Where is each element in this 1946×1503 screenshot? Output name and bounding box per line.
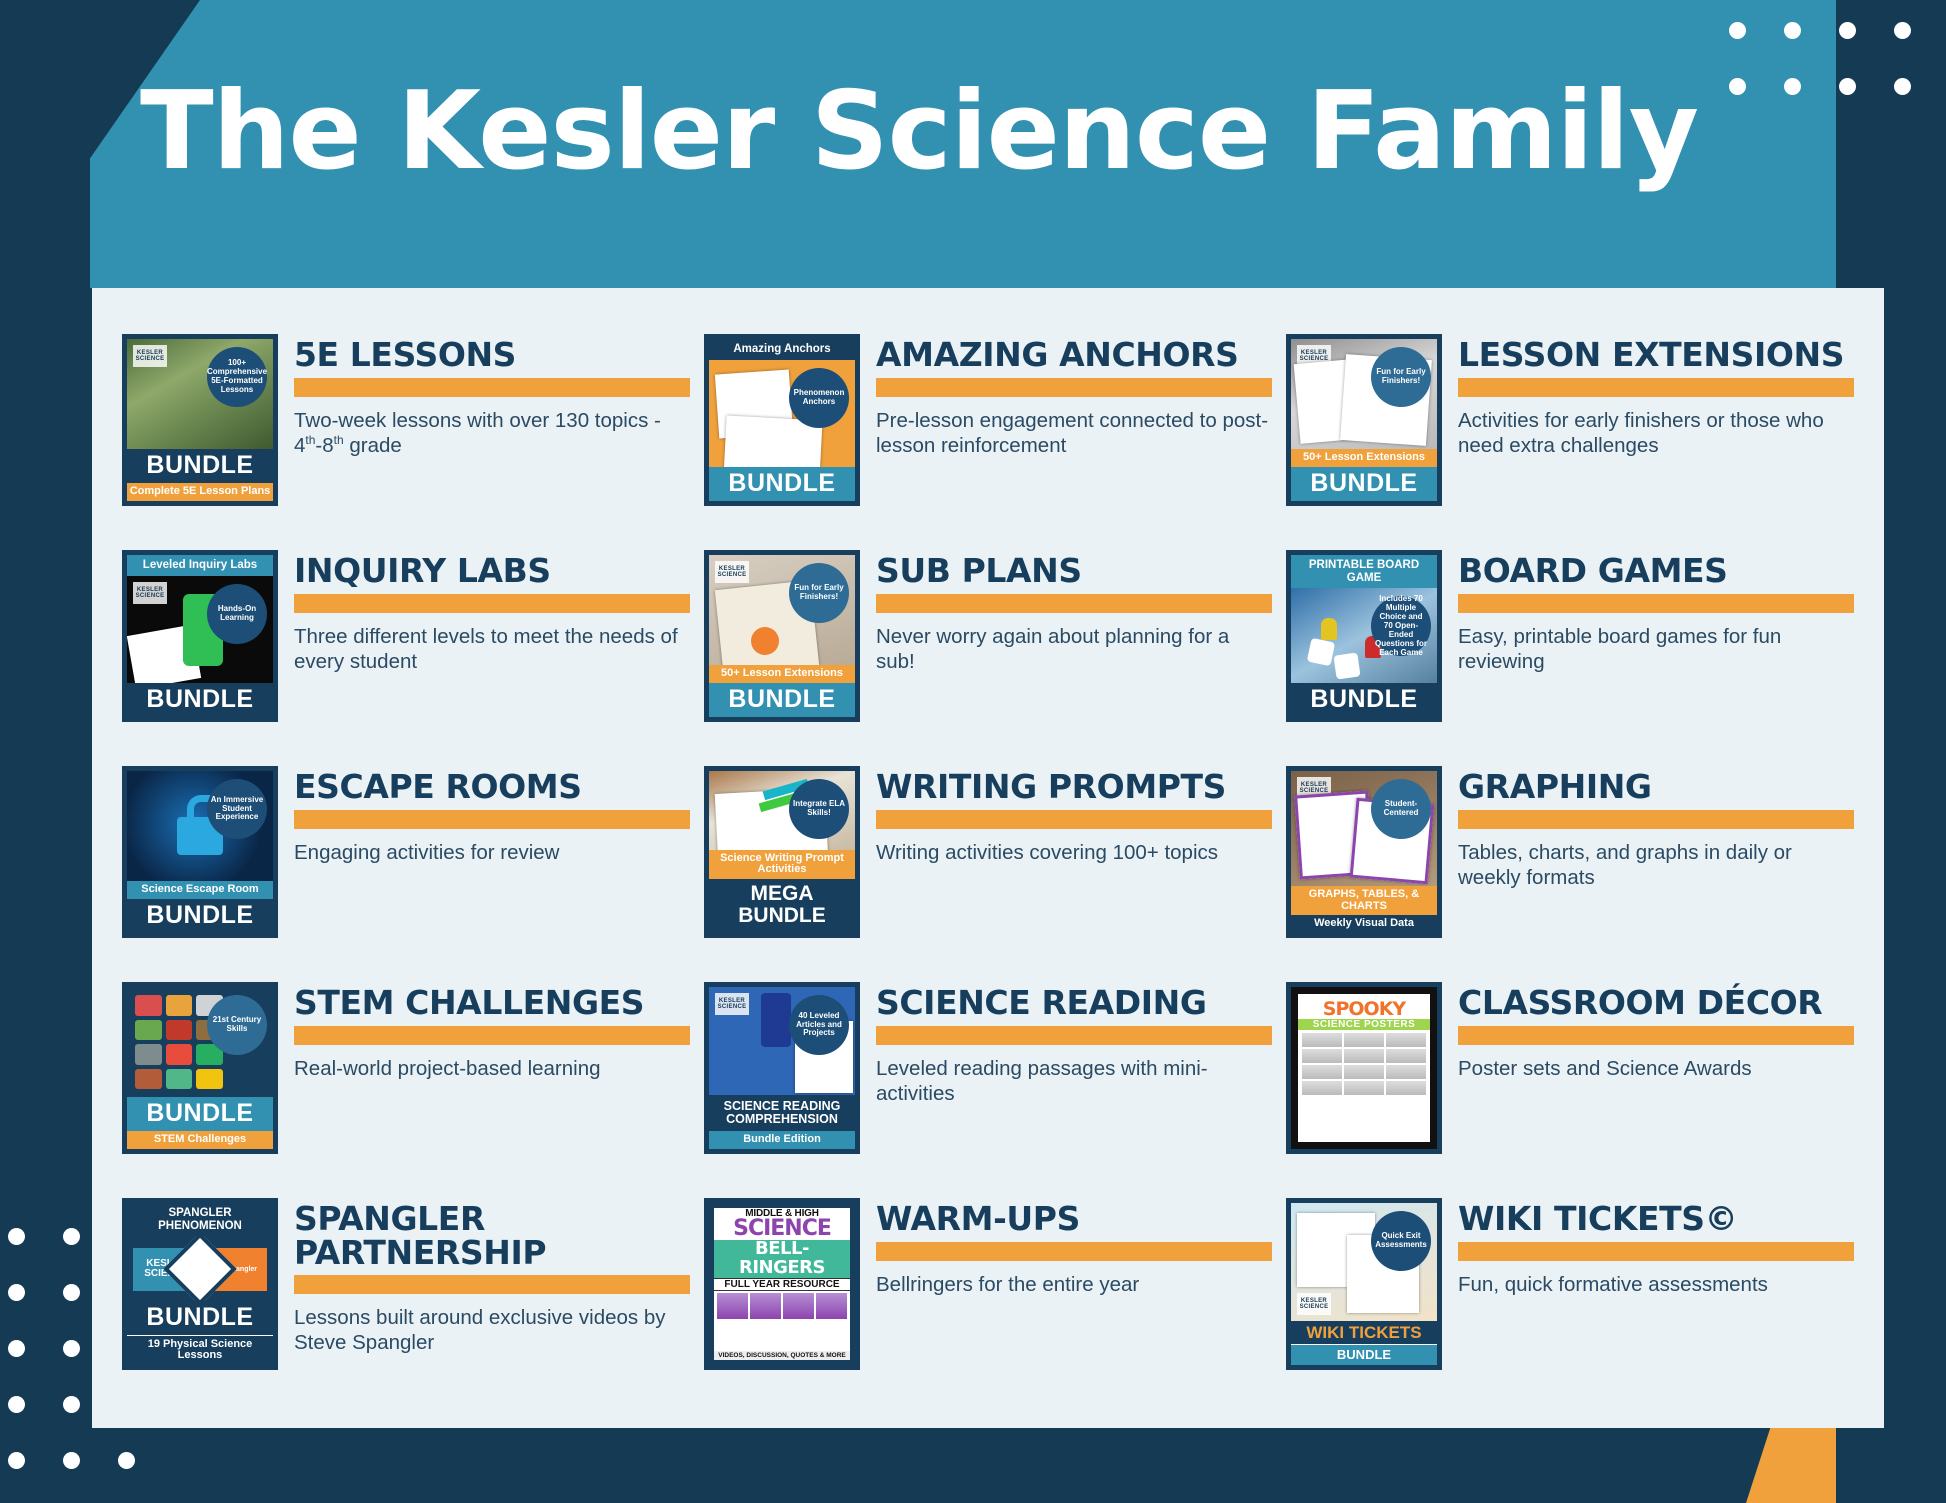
cover-badge: Student-Centered <box>1371 779 1431 839</box>
cover-sub-label: 19 Physical Science Lessons <box>127 1335 273 1365</box>
poster-thumb <box>1302 1049 1342 1063</box>
product-cover-classroom-decor[interactable]: SPOOKY SCIENCE POSTERS <box>1286 982 1442 1154</box>
kesler-science-logo-icon: KESLERSCIENCE <box>133 345 167 367</box>
product-text-block: SPANGLER PARTNERSHIP Lessons built aroun… <box>294 1198 690 1355</box>
cover-sub-label: STEM Challenges <box>127 1131 273 1149</box>
bellringer-thumb <box>783 1293 814 1319</box>
cover-artwork: KESLER SCIENCE stevespangler <box>127 1236 273 1300</box>
product-description: Activities for early finishers or those … <box>1458 408 1854 458</box>
decorative-dot <box>63 1284 80 1301</box>
product-description: Bellringers for the entire year <box>876 1272 1272 1297</box>
content-panel: KESLERSCIENCE 100+ Comprehensive 5E-Form… <box>92 288 1884 1428</box>
cover-sub-label: BUNDLE <box>1291 1345 1437 1365</box>
product-description: Never worry again about planning for a s… <box>876 624 1272 674</box>
product-text-block: GRAPHING Tables, charts, and graphs in d… <box>1458 766 1854 890</box>
product-title: WRITING PROMPTS <box>876 770 1272 804</box>
poster-thumb <box>1302 1081 1342 1095</box>
stem-icon <box>135 1044 162 1065</box>
cover-badge: Phenomenon Anchors <box>789 368 849 428</box>
product-text-block: LESSON EXTENSIONS Activities for early f… <box>1458 334 1854 458</box>
poster-thumb <box>1344 1049 1384 1063</box>
product-text-block: WRITING PROMPTS Writing activities cover… <box>876 766 1272 865</box>
bellringer-thumb <box>717 1293 748 1319</box>
product-cover-sub-plans[interactable]: KESLERSCIENCE Fun for Early Finishers! 5… <box>704 550 860 722</box>
product-item-board-games[interactable]: PRINTABLE BOARD GAME Includes 70 Multipl… <box>1286 540 1854 756</box>
cover-top-label: SPANGLER PHENOMENON <box>127 1203 273 1236</box>
cover-badge: An Immersive Student Experience <box>207 779 267 839</box>
product-cover-5e-lessons[interactable]: KESLERSCIENCE 100+ Comprehensive 5E-Form… <box>122 334 278 506</box>
product-text-block: SUB PLANS Never worry again about planni… <box>876 550 1272 674</box>
product-text-block: ESCAPE ROOMS Engaging activities for rev… <box>294 766 690 865</box>
product-title: WARM-UPS <box>876 1202 1272 1236</box>
poster-title: SPOOKY <box>1298 994 1430 1019</box>
product-title: INQUIRY LABS <box>294 554 690 588</box>
bellringer-line-3: BELL-RINGERS <box>714 1240 850 1278</box>
cover-artwork: KESLERSCIENCE Fun for Early Finishers! <box>709 555 855 665</box>
cover-badge: 100+ Comprehensive 5E-Formatted Lessons <box>207 347 267 407</box>
product-title: WIKI TICKETS© <box>1458 1202 1854 1236</box>
product-text-block: SCIENCE READING Leveled reading passages… <box>876 982 1272 1106</box>
title-underline-bar <box>294 1275 690 1294</box>
poster-thumb <box>1344 1065 1384 1079</box>
product-item-wiki-tickets[interactable]: KESLERSCIENCE Quick Exit Assessments WIK… <box>1286 1188 1854 1404</box>
cover-sub-label: Weekly Visual Data <box>1291 915 1437 933</box>
product-text-block: BOARD GAMES Easy, printable board games … <box>1458 550 1854 674</box>
decorative-dot <box>1784 22 1801 39</box>
cover-artwork: KESLERSCIENCE 40 Leveled Articles and Pr… <box>709 987 855 1095</box>
decorative-dot <box>8 1228 25 1245</box>
product-text-block: INQUIRY LABS Three different levels to m… <box>294 550 690 674</box>
decorative-dot <box>8 1396 25 1413</box>
decorative-dot <box>8 1284 25 1301</box>
cover-artwork: Integrate ELA Skills! <box>709 771 855 850</box>
title-underline-bar <box>1458 378 1854 397</box>
cover-artwork: An Immersive Student Experience <box>127 771 273 881</box>
product-description: Engaging activities for review <box>294 840 690 865</box>
cover-artwork: Includes 70 Multiple Choice and 70 Open-… <box>1291 588 1437 682</box>
title-underline-bar <box>294 1026 690 1045</box>
product-cover-wiki-tickets[interactable]: KESLERSCIENCE Quick Exit Assessments WIK… <box>1286 1198 1442 1370</box>
product-description: Lessons built around exclusive videos by… <box>294 1305 690 1355</box>
poster-subtitle: SCIENCE POSTERS <box>1298 1019 1430 1030</box>
kesler-science-logo-icon: KESLERSCIENCE <box>133 582 167 604</box>
product-item-warm-ups[interactable]: MIDDLE & HIGH SCIENCE BELL-RINGERS FULL … <box>704 1188 1272 1404</box>
product-description: Two-week lessons with over 130 topics - … <box>294 408 690 458</box>
cover-sub-label: Complete 5E Lesson Plans <box>127 483 273 501</box>
product-cover-warm-ups[interactable]: MIDDLE & HIGH SCIENCE BELL-RINGERS FULL … <box>704 1198 860 1370</box>
product-cover-writing-prompts[interactable]: Integrate ELA Skills! Science Writing Pr… <box>704 766 860 938</box>
decorative-dot <box>63 1340 80 1357</box>
cover-bundle-label: MEGA BUNDLE <box>709 879 855 933</box>
cover-sub-label: Science Writing Prompt Activities <box>709 850 855 879</box>
product-item-stem-challenges[interactable]: 21st Century Skills BUNDLE STEM Challeng… <box>122 972 690 1188</box>
page-title: The Kesler Science Family <box>140 78 1698 186</box>
poster-thumb <box>1386 1081 1426 1095</box>
product-description: Leveled reading passages with mini-activ… <box>876 1056 1272 1106</box>
cover-artwork: Phenomenon Anchors <box>709 360 855 467</box>
cover-badge: Includes 70 Multiple Choice and 70 Open-… <box>1371 596 1431 656</box>
decorative-dot <box>63 1452 80 1469</box>
dice-icon <box>1333 653 1360 680</box>
dice-icon <box>1307 638 1335 666</box>
cover-sub-label: VIDEOS, DISCUSSION, QUOTES & MORE <box>714 1351 850 1360</box>
cover-sub-label: Science Escape Room <box>127 881 273 899</box>
poster-thumb <box>1302 1065 1342 1079</box>
poster-thumb <box>1386 1049 1426 1063</box>
stem-icon <box>166 1044 193 1065</box>
cover-artwork: KESLERSCIENCE Fun for Early Finishers! <box>1291 339 1437 449</box>
product-title: 5E LESSONS <box>294 338 690 372</box>
product-description: Real-world project-based learning <box>294 1056 690 1081</box>
product-text-block: CLASSROOM DÉCOR Poster sets and Science … <box>1458 982 1854 1081</box>
cover-bundle-label: BUNDLE <box>127 683 273 717</box>
bellringer-line-2: SCIENCE <box>714 1219 850 1240</box>
product-cover-inquiry-labs[interactable]: Leveled Inquiry Labs KESLERSCIENCE Hands… <box>122 550 278 722</box>
cover-bundle-label: BUNDLE <box>709 467 855 501</box>
game-pawn-icon <box>1321 618 1337 640</box>
bellringer-thumbnail-grid <box>714 1291 850 1321</box>
product-item-spangler-partnership[interactable]: SPANGLER PHENOMENON KESLER SCIENCE steve… <box>122 1188 690 1404</box>
title-underline-bar <box>294 810 690 829</box>
cover-bundle-label: BUNDLE <box>127 899 273 933</box>
stem-icon-grid <box>135 995 223 1089</box>
decorative-dot <box>63 1228 80 1245</box>
product-cover-stem-challenges[interactable]: 21st Century Skills BUNDLE STEM Challeng… <box>122 982 278 1154</box>
cover-artwork: KESLERSCIENCE Quick Exit Assessments <box>1291 1203 1437 1321</box>
kesler-science-logo-icon: KESLERSCIENCE <box>715 561 749 583</box>
cover-artwork: KESLERSCIENCE Student-Centered <box>1291 771 1437 886</box>
title-underline-bar <box>876 1026 1272 1045</box>
stem-icon <box>196 1069 223 1090</box>
title-underline-bar <box>294 378 690 397</box>
cover-top-label: Amazing Anchors <box>709 339 855 360</box>
decorative-dot <box>1729 78 1746 95</box>
title-underline-bar <box>876 1242 1272 1261</box>
product-item-sub-plans[interactable]: KESLERSCIENCE Fun for Early Finishers! 5… <box>704 540 1272 756</box>
decorative-dot <box>1729 22 1746 39</box>
product-description: Pre-lesson engagement connected to post-… <box>876 408 1272 458</box>
cover-bundle-label: BUNDLE <box>1291 683 1437 717</box>
product-title: LESSON EXTENSIONS <box>1458 338 1854 372</box>
product-item-science-reading[interactable]: KESLERSCIENCE 40 Leveled Articles and Pr… <box>704 972 1272 1188</box>
diamond-icon <box>163 1236 237 1300</box>
stem-icon <box>135 1069 162 1090</box>
title-underline-bar <box>876 378 1272 397</box>
cover-bundle-label: BUNDLE <box>127 1301 273 1335</box>
bellringer-thumb <box>750 1293 781 1319</box>
product-grid: KESLERSCIENCE 100+ Comprehensive 5E-Form… <box>92 288 1884 1428</box>
cover-bundle-label: BUNDLE <box>1291 467 1437 501</box>
cover-sub-label: 50+ Lesson Extensions <box>709 665 855 683</box>
bellringer-thumb <box>816 1293 847 1319</box>
decorative-dot <box>1784 78 1801 95</box>
product-item-inquiry-labs[interactable]: Leveled Inquiry Labs KESLERSCIENCE Hands… <box>122 540 690 756</box>
product-text-block: AMAZING ANCHORS Pre-lesson engagement co… <box>876 334 1272 458</box>
decorative-dot <box>1839 22 1856 39</box>
decorative-dot <box>8 1340 25 1357</box>
product-item-graphing[interactable]: KESLERSCIENCE Student-Centered GRAPHS, T… <box>1286 756 1854 972</box>
cover-top-label: PRINTABLE BOARD GAME <box>1291 555 1437 588</box>
cover-sub-label: 50+ Lesson Extensions <box>1291 449 1437 467</box>
cover-badge: Fun for Early Finishers! <box>789 563 849 623</box>
product-title: GRAPHING <box>1458 770 1854 804</box>
poster-thumb <box>1344 1033 1384 1047</box>
cover-badge: Quick Exit Assessments <box>1371 1211 1431 1271</box>
cover-badge: Hands-On Learning <box>207 584 267 644</box>
cover-bundle-label: SCIENCE READING COMPREHENSION <box>709 1095 855 1131</box>
stem-icon <box>166 1069 193 1090</box>
product-item-5e-lessons[interactable]: KESLERSCIENCE 100+ Comprehensive 5E-Form… <box>122 324 690 540</box>
right-teal-strip <box>1776 0 1836 288</box>
decorative-dot <box>8 1452 25 1469</box>
poster-background: The Kesler Science Family KESLERSCIENCE … <box>0 0 1946 1503</box>
product-cover-lesson-extensions[interactable]: KESLERSCIENCE Fun for Early Finishers! 5… <box>1286 334 1442 506</box>
cover-bundle-label: GRAPHS, TABLES, & CHARTS <box>1291 886 1437 915</box>
decorative-dot <box>118 1452 135 1469</box>
cover-artwork: SPOOKY SCIENCE POSTERS <box>1298 994 1430 1142</box>
product-description: Fun, quick formative assessments <box>1458 1272 1854 1297</box>
stem-icon <box>166 995 193 1016</box>
cover-artwork: KESLERSCIENCE Hands-On Learning <box>127 576 273 683</box>
product-description: Three different levels to meet the needs… <box>294 624 690 674</box>
cover-sub-label: Bundle Edition <box>709 1131 855 1149</box>
bellringer-line-4: FULL YEAR RESOURCE <box>714 1278 850 1291</box>
product-text-block: 5E LESSONS Two-week lessons with over 13… <box>294 334 690 458</box>
product-item-lesson-extensions[interactable]: KESLERSCIENCE Fun for Early Finishers! 5… <box>1286 324 1854 540</box>
product-cover-graphing[interactable]: KESLERSCIENCE Student-Centered GRAPHS, T… <box>1286 766 1442 938</box>
product-item-escape-rooms[interactable]: An Immersive Student Experience Science … <box>122 756 690 972</box>
product-description: Writing activities covering 100+ topics <box>876 840 1272 865</box>
product-item-classroom-decor[interactable]: SPOOKY SCIENCE POSTERS <box>1286 972 1854 1188</box>
product-text-block: WARM-UPS Bellringers for the entire year <box>876 1198 1272 1297</box>
product-title: STEM CHALLENGES <box>294 986 690 1020</box>
title-underline-bar <box>1458 594 1854 613</box>
product-description: Poster sets and Science Awards <box>1458 1056 1854 1081</box>
title-underline-bar <box>294 594 690 613</box>
cover-bundle-label: WIKI TICKETS <box>1291 1321 1437 1346</box>
product-title: BOARD GAMES <box>1458 554 1854 588</box>
left-navy-column <box>0 0 90 1503</box>
product-item-writing-prompts[interactable]: Integrate ELA Skills! Science Writing Pr… <box>704 756 1272 972</box>
poster-thumb <box>1344 1081 1384 1095</box>
cover-artwork: MIDDLE & HIGH SCIENCE BELL-RINGERS FULL … <box>714 1208 850 1360</box>
product-description: Easy, printable board games for fun revi… <box>1458 624 1854 674</box>
cover-orange-dot <box>751 627 779 655</box>
product-cover-escape-rooms[interactable]: An Immersive Student Experience Science … <box>122 766 278 938</box>
cover-bundle-label: BUNDLE <box>127 1097 273 1131</box>
product-title: SPANGLER PARTNERSHIP <box>294 1202 690 1269</box>
product-cover-amazing-anchors[interactable]: Amazing Anchors Phenomenon Anchors BUNDL… <box>704 334 860 506</box>
poster-thumb <box>1302 1033 1342 1047</box>
cover-artwork: 21st Century Skills <box>127 987 273 1097</box>
title-underline-bar <box>1458 1026 1854 1045</box>
cover-badge: Fun for Early Finishers! <box>1371 347 1431 407</box>
decorative-dot <box>1894 78 1911 95</box>
cover-top-label: Leveled Inquiry Labs <box>127 555 273 576</box>
product-item-amazing-anchors[interactable]: Amazing Anchors Phenomenon Anchors BUNDL… <box>704 324 1272 540</box>
poster-thumbnail-grid <box>1298 1030 1430 1098</box>
product-cover-board-games[interactable]: PRINTABLE BOARD GAME Includes 70 Multipl… <box>1286 550 1442 722</box>
cover-badge: Integrate ELA Skills! <box>789 779 849 839</box>
product-text-block: STEM CHALLENGES Real-world project-based… <box>294 982 690 1081</box>
decorative-dot <box>1839 78 1856 95</box>
decorative-dot <box>1894 22 1911 39</box>
title-underline-bar <box>1458 1242 1854 1261</box>
title-underline-bar <box>876 594 1272 613</box>
product-title: SUB PLANS <box>876 554 1272 588</box>
decorative-dot <box>63 1396 80 1413</box>
stem-icon <box>135 995 162 1016</box>
cover-artwork: KESLERSCIENCE 100+ Comprehensive 5E-Form… <box>127 339 273 449</box>
microscope-icon <box>761 993 791 1047</box>
product-title: ESCAPE ROOMS <box>294 770 690 804</box>
stem-icon <box>135 1020 162 1041</box>
poster-thumb <box>1386 1065 1426 1079</box>
product-text-block: WIKI TICKETS© Fun, quick formative asses… <box>1458 1198 1854 1297</box>
product-title: AMAZING ANCHORS <box>876 338 1272 372</box>
cover-badge: 21st Century Skills <box>207 995 267 1055</box>
cover-bundle-label: BUNDLE <box>127 449 273 483</box>
poster-thumb <box>1386 1033 1426 1047</box>
title-underline-bar <box>1458 810 1854 829</box>
stem-icon <box>166 1020 193 1041</box>
product-cover-spangler-partnership[interactable]: SPANGLER PHENOMENON KESLER SCIENCE steve… <box>122 1198 278 1370</box>
kesler-science-logo-icon: KESLERSCIENCE <box>1297 1293 1331 1315</box>
title-underline-bar <box>876 810 1272 829</box>
partnership-mark: KESLER SCIENCE stevespangler <box>133 1248 267 1290</box>
kesler-science-logo-icon: KESLERSCIENCE <box>715 993 749 1015</box>
product-cover-science-reading[interactable]: KESLERSCIENCE 40 Leveled Articles and Pr… <box>704 982 860 1154</box>
cover-badge: 40 Leveled Articles and Projects <box>789 995 849 1055</box>
product-description: Tables, charts, and graphs in daily or w… <box>1458 840 1854 890</box>
cover-bundle-label: BUNDLE <box>709 683 855 717</box>
product-title: CLASSROOM DÉCOR <box>1458 986 1854 1020</box>
product-title: SCIENCE READING <box>876 986 1272 1020</box>
